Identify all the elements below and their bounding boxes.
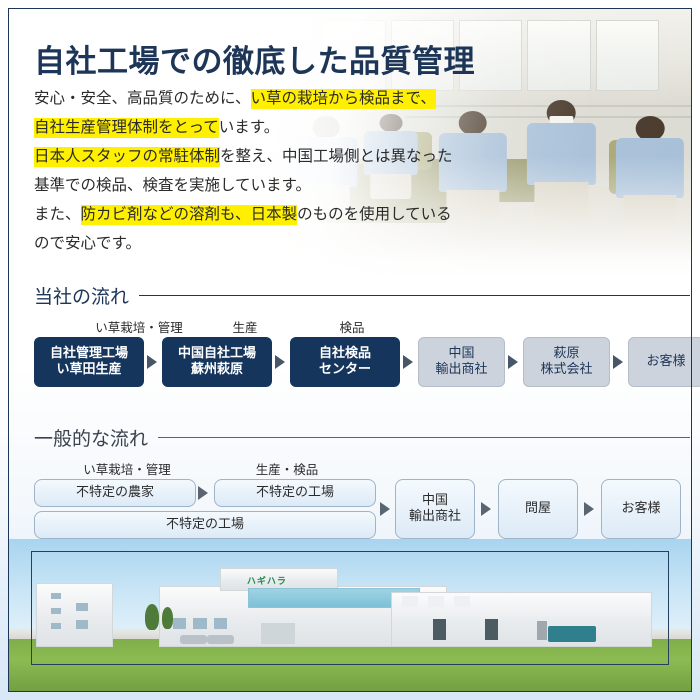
flow-caption: い草栽培・管理 bbox=[95, 317, 183, 336]
body-text: のものを使用している bbox=[297, 207, 452, 223]
highlighted-text: 日本製 bbox=[251, 205, 298, 225]
body-line: また、防カビ剤などの溶剤も、日本製のものを使用している bbox=[34, 204, 453, 226]
arrow-icon bbox=[584, 502, 594, 516]
node-label: お客様 bbox=[621, 501, 660, 517]
body-line: 日本人スタッフの常駐体制を整え、中国工場側とは異なった bbox=[34, 146, 453, 168]
flow-node: 不特定の農家 bbox=[34, 479, 196, 507]
node-label: 株式会社 bbox=[540, 362, 592, 378]
body-text: 安心・安全、高品質のために、 bbox=[34, 91, 251, 107]
general-flow-diagram: 不特定の農家不特定の工場不特定の工場中国輸出商社問屋お客様 bbox=[34, 479, 690, 547]
node-label: 輸出商社 bbox=[409, 509, 461, 525]
body-text: を整え、中国工場側とは異なった bbox=[220, 149, 453, 165]
general-flow-captions: い草栽培・管理生産・検品 bbox=[34, 459, 690, 477]
node-label: 蘇州萩原 bbox=[191, 362, 243, 378]
arrow-icon bbox=[147, 355, 157, 369]
body-line: 基準での検品、検査を実施しています。 bbox=[34, 175, 453, 197]
flow-caption: 検品 bbox=[339, 317, 364, 336]
flow-node: 中国自社工場蘇州萩原 bbox=[162, 337, 272, 387]
node-label: 問屋 bbox=[525, 501, 551, 517]
body-copy: 安心・安全、高品質のために、い草の栽培から検品まで、 自社生産管理体制をとってい… bbox=[34, 88, 453, 262]
header-rule bbox=[158, 437, 690, 438]
body-text: ので安心です。 bbox=[34, 236, 141, 252]
flow-node: 萩原株式会社 bbox=[523, 337, 610, 387]
building-sign: ハギハラ bbox=[247, 574, 287, 587]
factory-building-photo: ハギハラ bbox=[9, 539, 691, 691]
flow-node: 不特定の工場 bbox=[214, 479, 376, 507]
arrow-icon bbox=[380, 502, 390, 516]
infographic-page: 自社工場での徹底した品質管理 安心・安全、高品質のために、い草の栽培から検品まで… bbox=[0, 0, 700, 700]
flow-node: 中国輸出商社 bbox=[395, 479, 475, 539]
flow-node: 中国輸出商社 bbox=[418, 337, 505, 387]
highlighted-text: 日本人スタッフの常駐体制 bbox=[34, 147, 220, 167]
flow-node: 問屋 bbox=[498, 479, 578, 539]
body-text: 基準での検品、検査を実施しています。 bbox=[34, 178, 311, 194]
company-flow-title: 当社の流れ bbox=[34, 282, 129, 309]
node-label: お客様 bbox=[646, 354, 685, 370]
body-text: います。 bbox=[219, 120, 279, 136]
arrow-icon bbox=[198, 486, 208, 500]
node-label: 萩原 bbox=[553, 346, 579, 362]
flow-caption: 生産・検品 bbox=[256, 459, 319, 478]
company-flow-section: 当社の流れ い草栽培・管理生産検品 自社管理工場い草田生産中国自社工場蘇州萩原自… bbox=[34, 282, 690, 389]
page-title: 自社工場での徹底した品質管理 bbox=[34, 36, 475, 81]
flow-caption: い草栽培・管理 bbox=[83, 459, 171, 478]
highlighted-text: 自社生産管理体制をとって bbox=[34, 118, 219, 138]
node-label: 自社検品 bbox=[319, 346, 371, 362]
header-rule bbox=[139, 295, 690, 297]
flow-node: お客様 bbox=[601, 479, 681, 539]
general-flow-title: 一般的な流れ bbox=[34, 424, 148, 451]
highlighted-text: い草の栽培から検品まで、 bbox=[251, 89, 436, 109]
body-text: また、 bbox=[34, 207, 81, 223]
arrow-icon bbox=[508, 355, 518, 369]
body-line: 自社生産管理体制をとっています。 bbox=[34, 117, 453, 139]
arrow-icon bbox=[403, 355, 413, 369]
highlighted-text: 防カビ剤などの溶剤も、 bbox=[81, 205, 251, 225]
node-label: 中国自社工場 bbox=[178, 346, 256, 362]
flow-caption: 生産 bbox=[232, 317, 257, 336]
node-label: 不特定の工場 bbox=[256, 485, 334, 501]
node-label: 自社管理工場 bbox=[50, 346, 128, 362]
arrow-icon bbox=[481, 502, 491, 516]
node-label: 中国 bbox=[448, 346, 474, 362]
flow-node: お客様 bbox=[628, 337, 700, 387]
body-line: ので安心です。 bbox=[34, 233, 453, 255]
general-flow-header: 一般的な流れ bbox=[34, 424, 690, 451]
body-line: 安心・安全、高品質のために、い草の栽培から検品まで、 bbox=[34, 88, 453, 110]
general-flow-section: 一般的な流れ い草栽培・管理生産・検品 不特定の農家不特定の工場不特定の工場中国… bbox=[34, 424, 690, 547]
arrow-icon bbox=[275, 355, 285, 369]
company-flow-diagram: 自社管理工場い草田生産中国自社工場蘇州萩原自社検品センター中国輸出商社萩原株式会… bbox=[34, 337, 690, 389]
flow-node: 自社検品センター bbox=[290, 337, 400, 387]
node-label: 不特定の農家 bbox=[76, 485, 154, 501]
node-label: 輸出商社 bbox=[435, 362, 487, 378]
node-label: 不特定の工場 bbox=[166, 517, 244, 533]
flow-node: 不特定の工場 bbox=[34, 511, 376, 539]
node-label: センター bbox=[319, 362, 371, 378]
node-label: 中国 bbox=[422, 493, 448, 509]
arrow-icon bbox=[613, 355, 623, 369]
company-flow-header: 当社の流れ bbox=[34, 282, 690, 309]
company-flow-captions: い草栽培・管理生産検品 bbox=[34, 317, 690, 335]
flow-node: 自社管理工場い草田生産 bbox=[34, 337, 144, 387]
node-label: い草田生産 bbox=[56, 362, 121, 378]
